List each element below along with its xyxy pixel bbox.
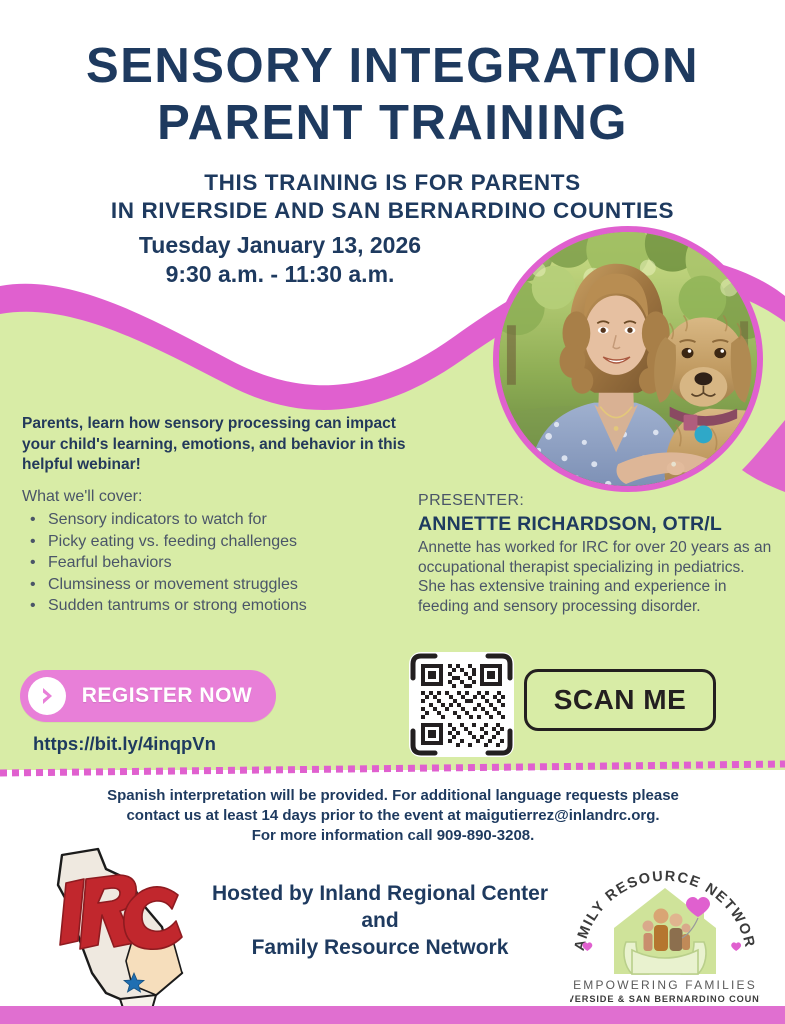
frn-logo: FAMILY RESOURCE NETWORK (570, 858, 760, 1008)
bullet-icon: • (30, 531, 36, 553)
list-item-label: Fearful behaviors (48, 554, 172, 571)
presenter-photo-image (499, 232, 757, 486)
hosted-line2: and (150, 907, 610, 934)
list-item: • Clumsiness or movement struggles (22, 574, 407, 596)
footer-note-line2: contact us at least 14 days prior to the… (38, 806, 748, 826)
list-item-label: Picky eating vs. feeding challenges (48, 533, 297, 550)
register-now-button[interactable]: REGISTER NOW (20, 670, 276, 722)
qr-code-icon[interactable] (409, 652, 514, 757)
footer-note-line3: For more information call 909-890-3208. (38, 826, 748, 846)
page-header: SENSORY INTEGRATION PARENT TRAINING THIS… (0, 38, 785, 225)
hosted-line1: Hosted by Inland Regional Center (150, 880, 610, 907)
bullet-icon: • (30, 595, 36, 617)
bullet-icon: • (30, 552, 36, 574)
page-title-line2: PARENT TRAINING (0, 95, 785, 152)
hosted-by-block: Hosted by Inland Regional Center and Fam… (150, 880, 610, 961)
presenter-photo (493, 226, 763, 492)
list-item: • Sensory indicators to watch for (22, 509, 407, 531)
frn-region: RIVERSIDE & SAN BERNARDINO COUNTY (570, 994, 760, 1004)
list-item: • Picky eating vs. feeding challenges (22, 531, 407, 553)
registration-url-link[interactable]: https://bit.ly/4inqpVn (33, 733, 216, 755)
flyer-page: SENSORY INTEGRATION PARENT TRAINING THIS… (0, 0, 785, 1024)
subtitle-line2: IN RIVERSIDE AND SAN BERNARDINO COUNTIES (0, 197, 785, 225)
house-with-hands-icon (614, 888, 716, 974)
list-item-label: Sensory indicators to watch for (48, 511, 267, 528)
frn-tagline: EMPOWERING FAMILIES (573, 978, 757, 992)
list-item-label: Sudden tantrums or strong emotions (48, 597, 307, 614)
presenter-label: PRESENTER: (418, 492, 524, 510)
scan-me-label: SCAN ME (554, 684, 687, 716)
footer-note: Spanish interpretation will be provided.… (38, 786, 748, 846)
presenter-name: ANNETTE RICHARDSON, OTR/L (418, 513, 722, 536)
cover-heading: What we'll cover: (22, 487, 407, 507)
irc-monogram (60, 875, 182, 949)
list-item-label: Clumsiness or movement struggles (48, 576, 298, 593)
subtitle-line1: THIS TRAINING IS FOR PARENTS (0, 169, 785, 197)
hosted-line3: Family Resource Network (150, 934, 610, 961)
lead-paragraph: Parents, learn how sensory processing ca… (22, 414, 407, 476)
page-title-line1: SENSORY INTEGRATION (0, 38, 785, 95)
cover-list: • Sensory indicators to watch for • Pick… (22, 509, 407, 617)
event-time: 9:30 a.m. - 11:30 a.m. (0, 260, 560, 289)
event-datetime: Tuesday January 13, 2026 9:30 a.m. - 11:… (0, 231, 560, 289)
dashed-divider (0, 758, 785, 780)
bullet-icon: • (30, 509, 36, 531)
list-item: • Sudden tantrums or strong emotions (22, 595, 407, 617)
list-item: • Fearful behaviors (22, 552, 407, 574)
presenter-bio: Annette has worked for IRC for over 20 y… (418, 538, 774, 616)
scan-me-badge: SCAN ME (524, 669, 716, 731)
bullet-icon: • (30, 574, 36, 596)
event-date: Tuesday January 13, 2026 (0, 231, 560, 260)
chevron-right-icon (28, 677, 66, 715)
bottom-accent-bar (0, 1006, 785, 1024)
register-now-label: REGISTER NOW (66, 684, 276, 708)
irc-logo (36, 845, 196, 1015)
footer-note-line1: Spanish interpretation will be provided.… (38, 786, 748, 806)
